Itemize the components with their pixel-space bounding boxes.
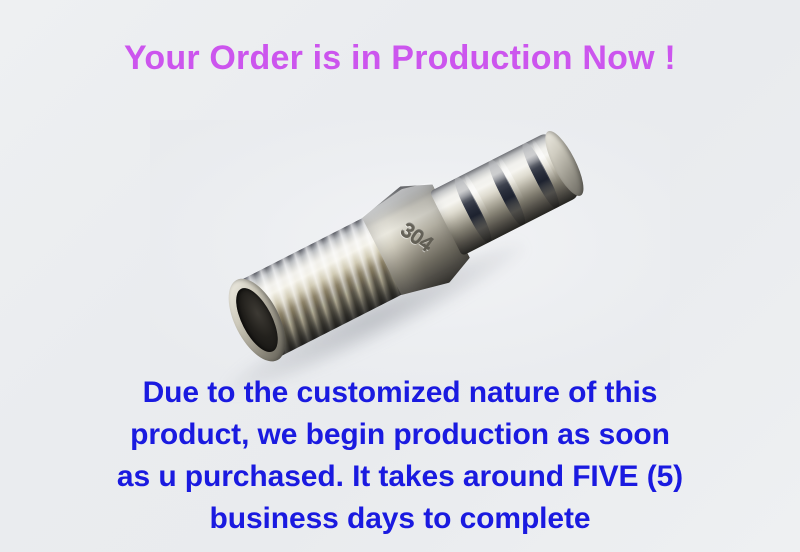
notice-banner: Your Order is in Production Now ! 304	[0, 0, 800, 552]
headline-text: Your Order is in Production Now !	[0, 38, 800, 78]
body-copy-line: as u purchased. It takes around FIVE (5)	[0, 456, 800, 498]
body-copy-line: Due to the customized nature of this	[0, 372, 800, 414]
body-copy-line: product, we begin production as soon	[0, 414, 800, 456]
body-copy: Due to the customized nature of this pro…	[0, 372, 800, 540]
body-copy-line: business days to complete	[0, 498, 800, 540]
product-photo: 304	[150, 120, 670, 380]
